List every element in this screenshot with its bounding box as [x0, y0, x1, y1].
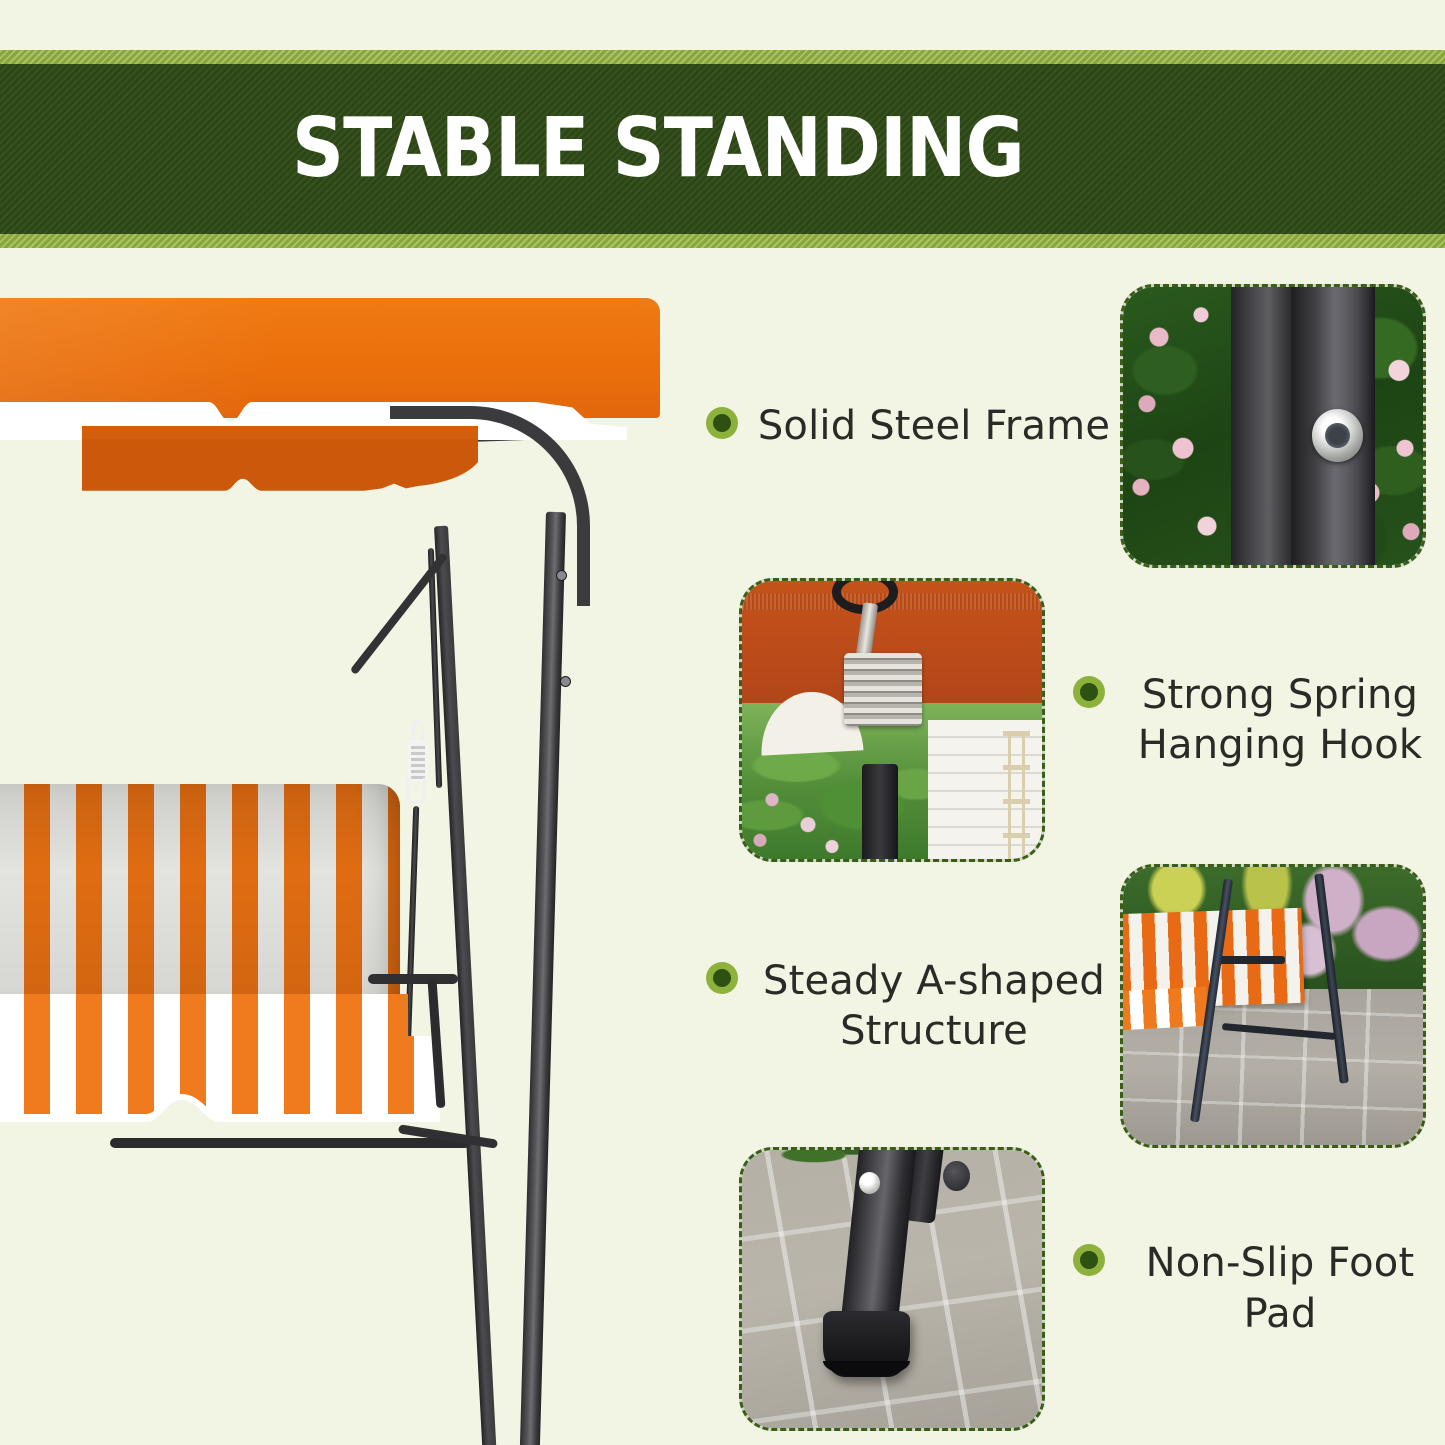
seat-backrest-shading [0, 784, 400, 999]
feature-label-solid-steel-frame: Solid Steel Frame [754, 401, 1114, 451]
seat-backrest [0, 784, 400, 999]
feature-list: Solid Steel Frame Strong Spring Hanging … [700, 276, 1445, 1445]
page-title: STABLE STANDING [292, 108, 1024, 190]
canopy-sheen [0, 298, 660, 418]
seat-cushion [0, 994, 408, 1042]
feature-label-cell: Steady A-shaped Structure [700, 956, 1120, 1057]
steel-pole-bolt-photo [1120, 284, 1426, 568]
photo-inner [1123, 867, 1423, 1145]
photo-inner [1123, 287, 1423, 565]
bullet-icon [706, 407, 738, 439]
striped-seat-skirt [1123, 987, 1208, 1031]
bullet-icon [1073, 1244, 1105, 1276]
feature-row-steady-a-shaped-structure: Steady A-shaped Structure [700, 856, 1445, 1156]
screw-icon [859, 1172, 880, 1194]
pole-knob [943, 1161, 970, 1192]
rear-leg [434, 526, 499, 1445]
feature-row-non-slip-foot-pad: Non-Slip Foot Pad [700, 1136, 1445, 1441]
bullet-icon [1073, 676, 1105, 708]
feature-label-non-slip-foot-pad: Non-Slip Foot Pad [1121, 1238, 1439, 1339]
armrest [368, 974, 458, 984]
foot-pad-photo [739, 1147, 1045, 1431]
pole-rivet-lower [560, 676, 571, 687]
feature-photo-cell [739, 1147, 1045, 1431]
bullet-icon [706, 962, 738, 994]
feature-label-cell: Non-Slip Foot Pad [1045, 1238, 1445, 1339]
feature-row-strong-spring-hanging-hook: Strong Spring Hanging Hook [700, 570, 1445, 870]
feature-label-cell: Solid Steel Frame [700, 401, 1120, 451]
hook-bottom-loop [406, 778, 426, 804]
main-support-pole [517, 512, 566, 1445]
spring-hook-graphic [400, 720, 434, 810]
product-hero-image [0, 276, 680, 1436]
seat-bottom-rail [110, 1138, 470, 1148]
header-banner: STABLE STANDING [0, 50, 1445, 248]
wooden-trellis [1003, 731, 1030, 859]
swing-armrest [1219, 956, 1285, 964]
photo-inner [742, 581, 1042, 859]
feature-row-solid-steel-frame: Solid Steel Frame [700, 276, 1445, 576]
canopy-top-panel [0, 298, 660, 418]
feature-photo-cell [1120, 284, 1426, 568]
banner-stripe-top [0, 50, 1445, 64]
feature-label-strong-spring-hanging-hook: Strong Spring Hanging Hook [1121, 670, 1439, 771]
support-post [862, 764, 898, 859]
bolt-icon [1312, 409, 1363, 462]
feature-label-cell: Strong Spring Hanging Hook [1045, 670, 1445, 771]
pole-rivet-upper [556, 570, 567, 581]
hook-top-loop [412, 720, 424, 742]
spring-hook-photo [739, 578, 1045, 862]
spring-coil [844, 653, 922, 725]
feature-photo-cell [1120, 864, 1426, 1148]
a-frame-structure-photo [1120, 864, 1426, 1148]
feature-photo-cell [739, 578, 1045, 862]
banner-stripe-bottom [0, 234, 1445, 248]
hook-coil [408, 740, 428, 782]
photo-inner [742, 1150, 1042, 1428]
feature-label-steady-a-shaped-structure: Steady A-shaped Structure [754, 956, 1114, 1057]
